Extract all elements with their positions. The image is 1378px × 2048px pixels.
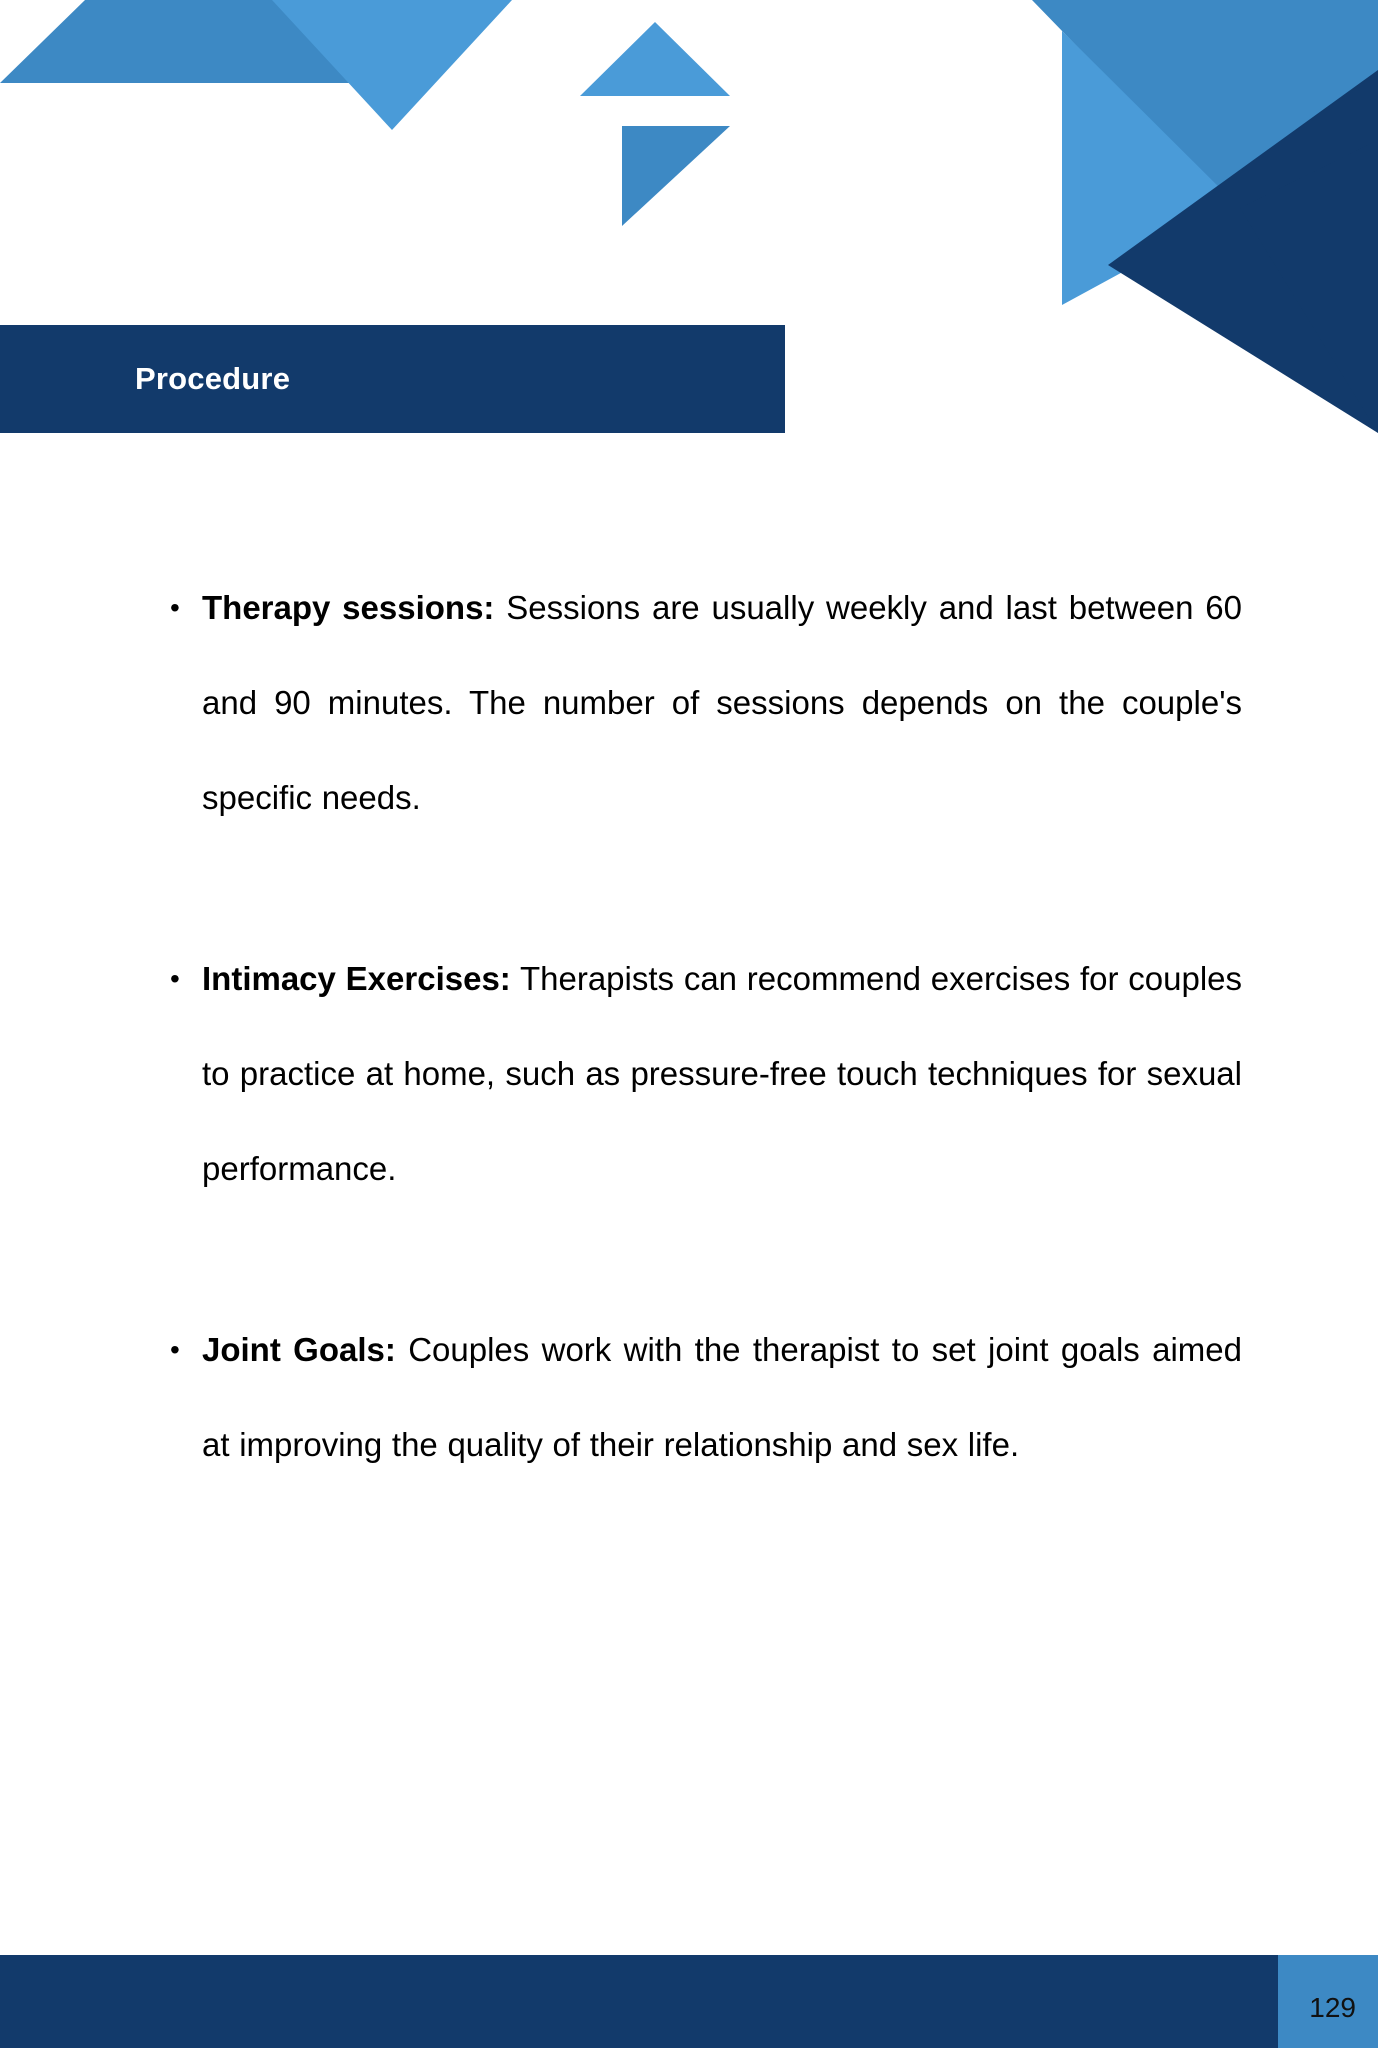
list-item: • Joint Goals: Couples work with the the… xyxy=(160,1302,1242,1492)
page-title: Procedure xyxy=(135,361,290,397)
header-decoration xyxy=(0,0,1378,580)
triangle-right-small-shape xyxy=(622,126,730,226)
footer-bar xyxy=(0,1955,1378,2048)
list-item-body: Intimacy Exercises: Therapists can recom… xyxy=(202,931,1242,1216)
list-item-lead: Therapy sessions: xyxy=(202,589,494,626)
list-item-lead: Joint Goals: xyxy=(202,1331,396,1368)
bullet-list: • Therapy sessions: Sessions are usually… xyxy=(160,560,1242,1492)
bullet-marker-icon: • xyxy=(160,560,202,655)
list-item: • Therapy sessions: Sessions are usually… xyxy=(160,560,1242,845)
section-title-bar: Procedure xyxy=(0,325,785,433)
large-triangle-navy-right-shape xyxy=(1108,70,1378,433)
triangle-up-small-shape xyxy=(580,22,730,96)
trapezoid-top-left-shape xyxy=(0,0,358,83)
large-triangle-top-right-shape xyxy=(1032,0,1378,240)
arrow-triangle-light-shape xyxy=(1062,31,1240,305)
list-item-lead: Intimacy Exercises: xyxy=(202,960,511,997)
inverted-triangle-top-center-shape xyxy=(272,0,512,130)
navy-wedge-right-shape xyxy=(1240,140,1378,433)
bullet-marker-icon: • xyxy=(160,931,202,1026)
list-item-body: Joint Goals: Couples work with the thera… xyxy=(202,1302,1242,1492)
list-item: • Intimacy Exercises: Therapists can rec… xyxy=(160,931,1242,1216)
list-item-body: Therapy sessions: Sessions are usually w… xyxy=(202,560,1242,845)
page-number: 129 xyxy=(1309,1994,1356,2022)
bullet-marker-icon: • xyxy=(160,1302,202,1397)
